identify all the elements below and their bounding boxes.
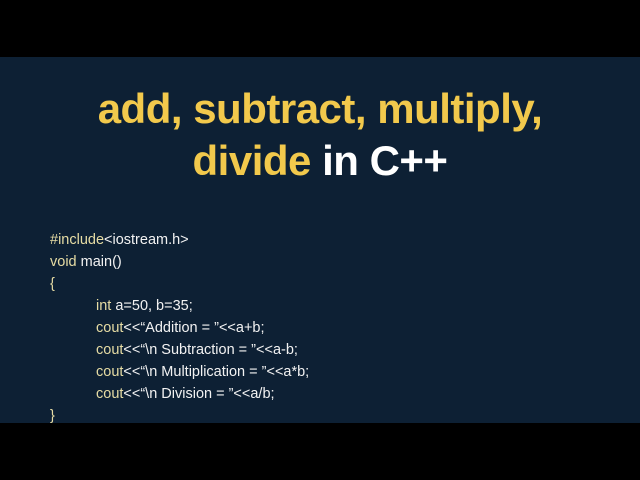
code-text: <<“Addition = ”<<a+b; [123, 320, 264, 336]
code-text: <<“\n Division = ”<<a/b; [123, 386, 274, 402]
code-block: #include<iostream.h>void main(){int a=50… [50, 229, 610, 427]
code-keyword: cout [96, 386, 123, 402]
code-text: <iostream.h> [104, 232, 189, 248]
title-line-1-text: add, subtract, multiply, [98, 85, 543, 132]
code-keyword: int [96, 298, 115, 314]
code-keyword: cout [96, 364, 123, 380]
code-line: #include<iostream.h> [50, 229, 610, 251]
code-line: { [50, 273, 610, 295]
code-keyword: } [50, 408, 55, 424]
code-keyword: void [50, 254, 81, 270]
code-text: <<“\n Subtraction = ”<<a-b; [123, 342, 298, 358]
title-highlight-text: divide [193, 137, 311, 184]
code-line: cout<<“Addition = ”<<a+b; [50, 317, 610, 339]
code-keyword: #include [50, 232, 104, 248]
code-line: cout<<“\n Subtraction = ”<<a-b; [50, 339, 610, 361]
letterbox-bar-bottom [0, 423, 640, 480]
code-keyword: cout [96, 342, 123, 358]
code-line: cout<<“\n Multiplication = ”<<a*b; [50, 361, 610, 383]
code-text: <<“\n Multiplication = ”<<a*b; [123, 364, 309, 380]
code-keyword: cout [96, 320, 123, 336]
title-line-1: add, subtract, multiply, [0, 83, 640, 135]
code-keyword: { [50, 276, 55, 292]
page-title: add, subtract, multiply, divide in C++ [0, 83, 640, 187]
code-line: void main() [50, 251, 610, 273]
slide-screen: add, subtract, multiply, divide in C++ #… [0, 0, 640, 480]
code-text: a=50, b=35; [115, 298, 192, 314]
code-text: main() [81, 254, 122, 270]
title-line-2: divide in C++ [0, 135, 640, 187]
code-line: cout<<“\n Division = ”<<a/b; [50, 383, 610, 405]
code-line: int a=50, b=35; [50, 295, 610, 317]
letterbox-bar-top [0, 0, 640, 57]
slide-content-panel: add, subtract, multiply, divide in C++ #… [0, 57, 640, 423]
title-plain-text: in C++ [311, 137, 448, 184]
